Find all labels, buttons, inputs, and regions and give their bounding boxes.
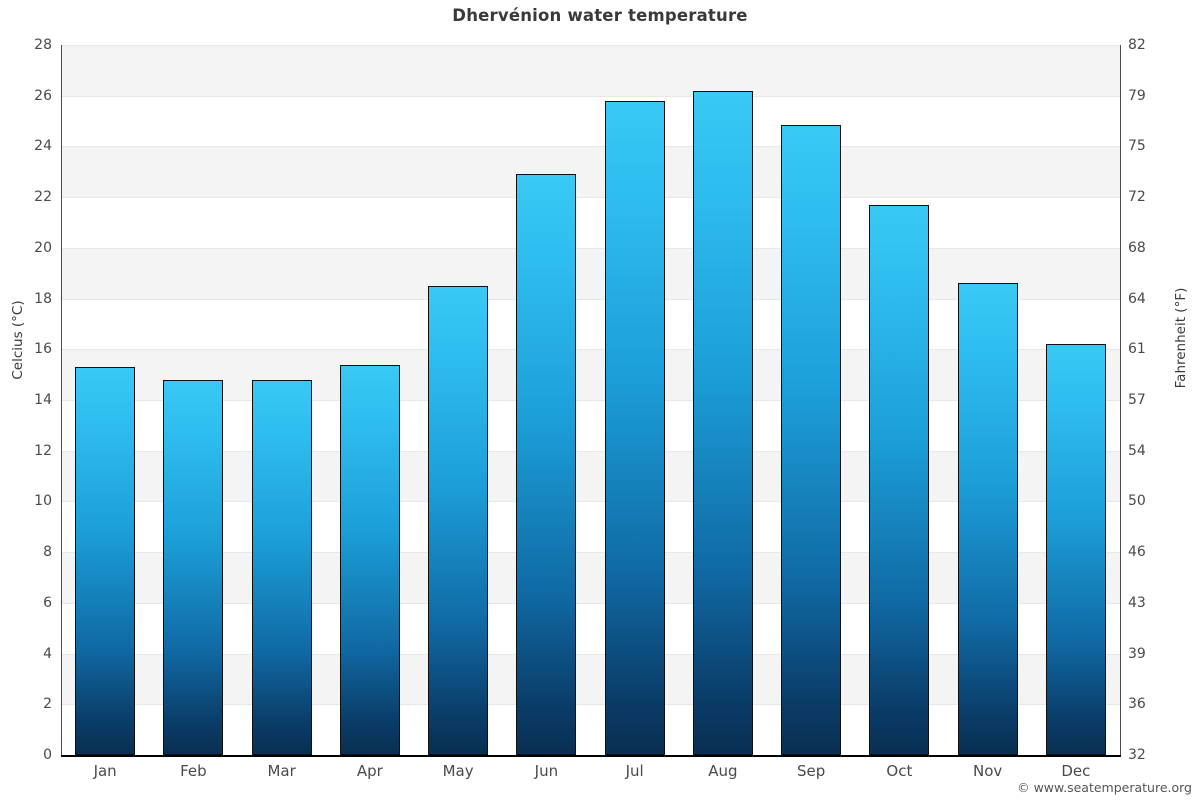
bar-jun[interactable] xyxy=(516,174,576,755)
bar-jan[interactable] xyxy=(75,367,135,755)
water-temperature-chart: Dhervénion water temperature 02468101214… xyxy=(0,0,1200,800)
bar-mar[interactable] xyxy=(252,380,312,755)
left-axis-tick-label: 12 xyxy=(34,443,52,459)
left-axis-tick-label: 18 xyxy=(34,291,52,307)
x-axis-tick-label-nov: Nov xyxy=(944,762,1032,780)
x-axis-tick-label-jul: Jul xyxy=(591,762,679,780)
left-axis-tick-label: 4 xyxy=(43,646,52,662)
right-axis-tick-label: 82 xyxy=(1128,37,1146,53)
right-axis-tick-label: 64 xyxy=(1128,291,1146,307)
right-axis-tick-label: 68 xyxy=(1128,240,1146,256)
x-axis-tick-label-may: May xyxy=(414,762,502,780)
left-axis-tick-label: 16 xyxy=(34,341,52,357)
x-axis-tick-label-jun: Jun xyxy=(502,762,590,780)
bar-aug[interactable] xyxy=(693,91,753,755)
left-axis-tick-label: 26 xyxy=(34,88,52,104)
left-axis-ticks: 0246810121416182022242628 xyxy=(0,0,52,800)
left-axis-tick-label: 2 xyxy=(43,696,52,712)
x-axis-tick-label-mar: Mar xyxy=(238,762,326,780)
right-axis-tick-label: 39 xyxy=(1128,646,1146,662)
right-axis-title: Fahrenheit (°F) xyxy=(1173,263,1189,413)
bottom-axis-spine xyxy=(61,755,1121,757)
bar-oct[interactable] xyxy=(869,205,929,755)
right-axis-tick-label: 54 xyxy=(1128,443,1146,459)
right-axis-tick-label: 61 xyxy=(1128,341,1146,357)
bar-jul[interactable] xyxy=(605,101,665,755)
right-axis-tick-label: 50 xyxy=(1128,493,1146,509)
right-axis-tick-label: 36 xyxy=(1128,696,1146,712)
x-axis-tick-label-feb: Feb xyxy=(149,762,237,780)
plot-band xyxy=(61,45,1120,96)
right-axis-tick-label: 32 xyxy=(1128,747,1146,763)
gridline xyxy=(61,197,1120,198)
left-axis-tick-label: 20 xyxy=(34,240,52,256)
right-axis-tick-label: 46 xyxy=(1128,544,1146,560)
gridline xyxy=(61,96,1120,97)
left-axis-tick-label: 14 xyxy=(34,392,52,408)
left-axis-tick-label: 0 xyxy=(43,747,52,763)
right-axis-ticks: 323639434650545761646872757982 xyxy=(1128,0,1178,800)
bar-dec[interactable] xyxy=(1046,344,1106,755)
left-axis-spine xyxy=(61,45,62,756)
bar-feb[interactable] xyxy=(163,380,223,755)
bar-may[interactable] xyxy=(428,286,488,755)
left-axis-tick-label: 6 xyxy=(43,595,52,611)
gridline xyxy=(61,146,1120,147)
left-axis-tick-label: 22 xyxy=(34,189,52,205)
x-axis-tick-label-aug: Aug xyxy=(679,762,767,780)
x-axis-tick-label-jan: Jan xyxy=(61,762,149,780)
right-axis-tick-label: 72 xyxy=(1128,189,1146,205)
left-axis-tick-label: 28 xyxy=(34,37,52,53)
right-axis-tick-label: 75 xyxy=(1128,138,1146,154)
left-axis-tick-label: 10 xyxy=(34,493,52,509)
left-axis-tick-label: 24 xyxy=(34,138,52,154)
x-axis-tick-label-dec: Dec xyxy=(1032,762,1120,780)
gridline xyxy=(61,248,1120,249)
right-axis-tick-label: 43 xyxy=(1128,595,1146,611)
x-axis-tick-label-apr: Apr xyxy=(326,762,414,780)
bar-nov[interactable] xyxy=(958,283,1018,755)
x-axis-tick-label-oct: Oct xyxy=(855,762,943,780)
plot-area xyxy=(61,45,1120,755)
right-axis-tick-label: 79 xyxy=(1128,88,1146,104)
copyright-notice: © www.seatemperature.org xyxy=(1017,780,1192,795)
right-axis-spine xyxy=(1120,45,1121,756)
bar-apr[interactable] xyxy=(340,365,400,756)
gridline xyxy=(61,45,1120,46)
left-axis-title: Celcius (°C) xyxy=(10,270,26,410)
bar-sep[interactable] xyxy=(781,125,841,755)
left-axis-tick-label: 8 xyxy=(43,544,52,560)
plot-band xyxy=(61,146,1120,197)
chart-title: Dhervénion water temperature xyxy=(0,6,1200,25)
right-axis-tick-label: 57 xyxy=(1128,392,1146,408)
x-axis-tick-label-sep: Sep xyxy=(767,762,855,780)
